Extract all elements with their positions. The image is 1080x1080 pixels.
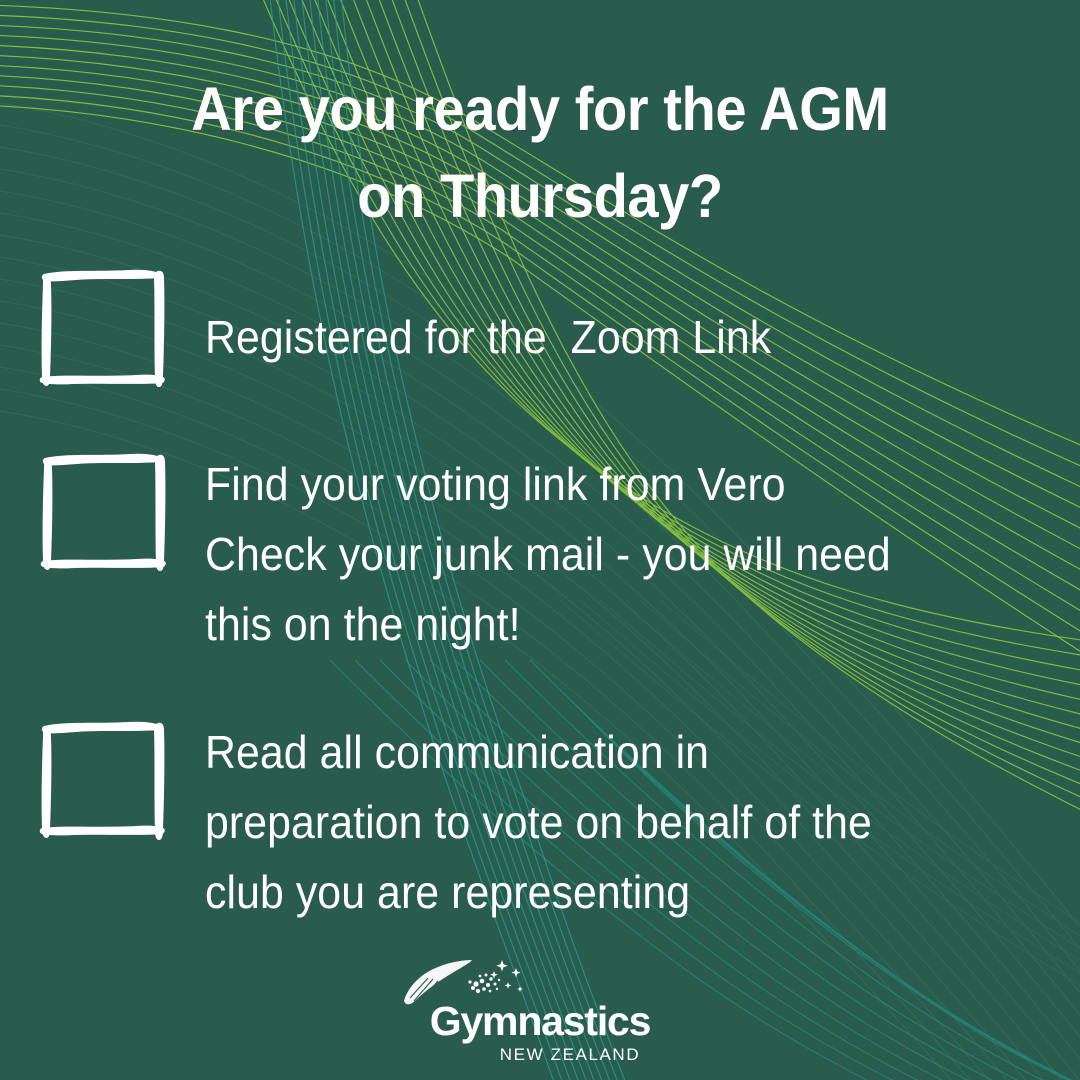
- checkbox-unchecked-icon-3[interactable]: [36, 718, 170, 846]
- logo-wordmark: Gymnastics: [390, 1001, 690, 1042]
- gymnastics-nz-logo: Gymnastics NEW ZEALAND: [390, 954, 690, 1064]
- page-title: Are you ready for the AGM on Thursday?: [43, 66, 1037, 239]
- page-title-line-2: on Thursday?: [43, 153, 1037, 240]
- poster-canvas: Are you ready for the AGM on Thursday?: [0, 0, 1080, 1080]
- checklist-item-3[interactable]: Read all communication in preparation to…: [0, 718, 1080, 928]
- checkbox-unchecked-icon-1[interactable]: [36, 265, 170, 393]
- logo-subtitle: NEW ZEALAND: [390, 1046, 690, 1063]
- checklist-item-1-text: Registered for the Zoom Link: [205, 265, 1019, 373]
- checklist-item-3-text: Read all communication in preparation to…: [205, 718, 1019, 928]
- checklist-item-1[interactable]: Registered for the Zoom Link: [0, 265, 1080, 393]
- checklist-item-2[interactable]: Find your voting link from Vero Check yo…: [0, 450, 1080, 660]
- checkbox-unchecked-icon-2[interactable]: [36, 450, 170, 578]
- checklist-item-2-text: Find your voting link from Vero Check yo…: [205, 450, 1019, 660]
- page-title-line-1: Are you ready for the AGM: [43, 66, 1037, 153]
